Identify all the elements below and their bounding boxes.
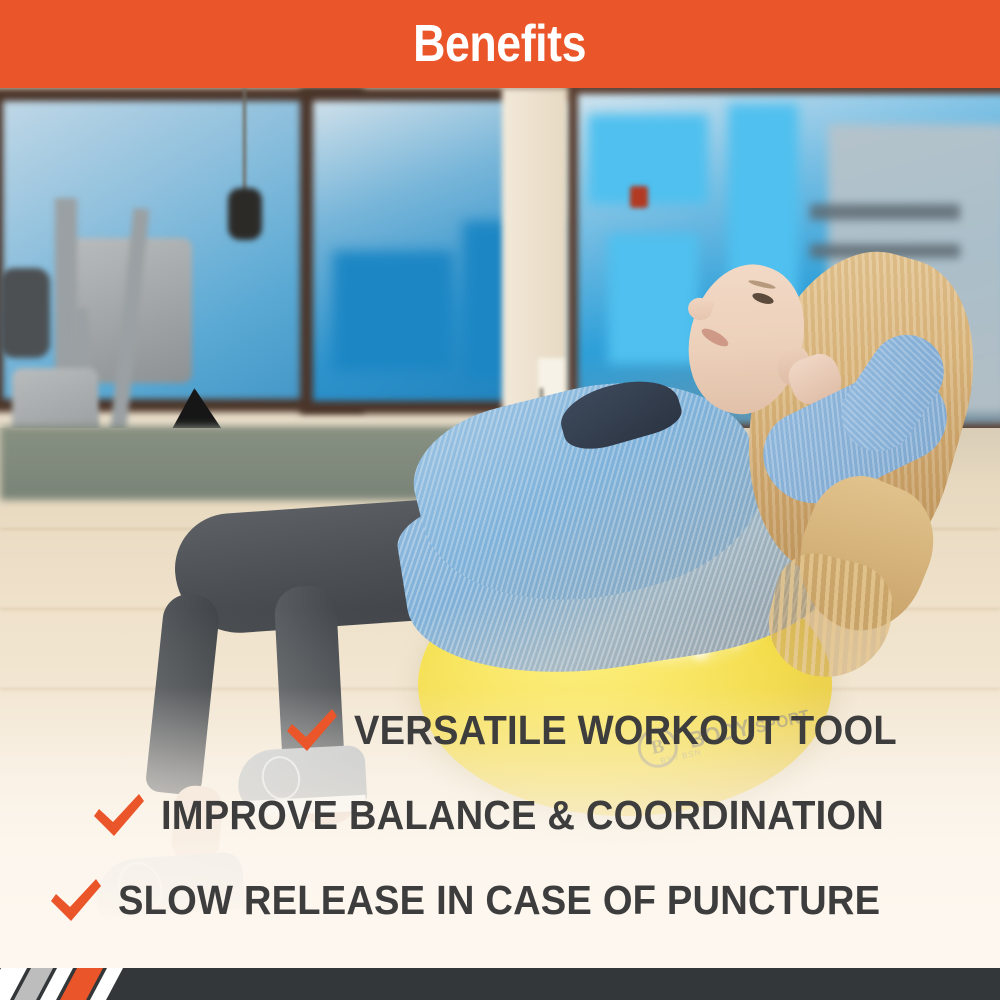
benefit-item: IMPROVE BALANCE & COORDINATION xyxy=(0,773,1000,858)
page-title: Benefits xyxy=(414,18,587,70)
benefit-label: VERSATILE WORKOUT TOOL xyxy=(354,710,897,751)
benefits-list: VERSATILE WORKOUT TOOL IMPROVE BALANCE &… xyxy=(0,688,1000,943)
fire-alarm-icon xyxy=(630,186,648,208)
gym-machine-part xyxy=(0,268,50,358)
cable-line xyxy=(243,88,246,196)
benefits-infographic: Benefits xyxy=(0,0,1000,1000)
check-icon xyxy=(284,707,340,755)
cable-weight xyxy=(228,188,262,240)
window-glare xyxy=(608,234,698,364)
mirror-reflection-blob xyxy=(333,251,453,371)
check-icon xyxy=(91,792,147,840)
benefit-label: IMPROVE BALANCE & COORDINATION xyxy=(161,795,884,836)
window-shelf xyxy=(810,204,960,220)
benefit-item: SLOW RELEASE IN CASE OF PUNCTURE xyxy=(0,858,1000,943)
footer-bar xyxy=(0,968,1000,1000)
check-icon xyxy=(48,877,104,925)
benefit-label: SLOW RELEASE IN CASE OF PUNCTURE xyxy=(118,880,880,921)
benefit-item: VERSATILE WORKOUT TOOL xyxy=(0,688,1000,773)
window-glare xyxy=(588,114,708,204)
header-bar: Benefits xyxy=(0,0,1000,88)
